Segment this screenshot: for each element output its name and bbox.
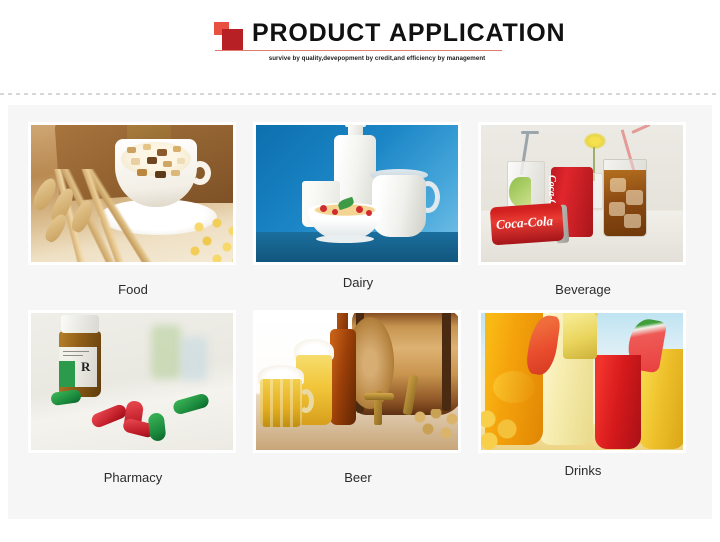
cereal-flake [147, 157, 157, 164]
page-header: PRODUCT APPLICATION survive by quality,d… [0, 0, 720, 90]
title-underline-rule [215, 50, 502, 51]
bowl-foot [316, 235, 374, 243]
fruit-garnish-pile [481, 409, 523, 450]
product-card-dairy[interactable]: Dairy [253, 122, 463, 291]
iced-cola-glass [603, 159, 647, 237]
pasta-pile [187, 217, 233, 262]
ice-cube [609, 202, 625, 216]
logo-square-dark [222, 29, 243, 50]
dairy-thumbnail-frame[interactable] [253, 122, 461, 265]
bottle-label-green-band [59, 361, 75, 387]
beverage-photo: Coca-Cola Coca-Cola [481, 125, 683, 262]
product-card-food[interactable]: Food [28, 122, 238, 298]
lime-slice [509, 177, 531, 207]
rx-symbol: R [81, 359, 90, 375]
two-red-squares-logo-icon [214, 22, 248, 52]
bent-straw-gray-top [521, 131, 539, 134]
orange-glass-highlight [493, 371, 535, 403]
bottle-cap-white [61, 315, 99, 333]
product-card-drinks[interactable]: Drinks [478, 310, 688, 479]
green-capsule [172, 392, 210, 415]
berry [320, 205, 327, 212]
label-text-line [63, 351, 89, 352]
beer-photo [256, 313, 458, 450]
barrel-band [442, 313, 451, 411]
pineapple-wedge [563, 313, 597, 359]
beer-thumbnail-frame[interactable] [253, 310, 461, 453]
barrel-tap-arm [364, 393, 394, 400]
ice-cube [610, 178, 626, 192]
pharmacy-thumbnail-frame[interactable]: R [28, 310, 236, 453]
drinks-photo [481, 313, 683, 450]
beer-mug [260, 379, 302, 427]
cereal-flake [127, 147, 136, 153]
dairy-photo [256, 125, 458, 262]
product-card-label: Dairy [253, 265, 463, 291]
page-subtitle: survive by quality,devepopment by credit… [252, 55, 502, 62]
cereal-flake [177, 158, 185, 164]
cereal-flake [171, 170, 180, 176]
product-card-label: Pharmacy [28, 453, 238, 486]
food-photo [31, 125, 233, 262]
green-capsule [50, 389, 82, 406]
drinks-thumbnail-frame[interactable] [478, 310, 686, 453]
cereal-flake [157, 149, 167, 156]
milk-jug [372, 175, 426, 237]
product-card-beverage[interactable]: Coca-Cola Coca-Cola Beverage [478, 122, 688, 298]
label-text-line [63, 355, 83, 356]
cereal-flake [173, 146, 181, 152]
header-dashed-divider [0, 93, 720, 95]
food-thumbnail-frame[interactable] [28, 122, 236, 265]
beer-bottle [330, 329, 356, 425]
product-card-label: Food [28, 265, 238, 298]
cereal-flake [155, 171, 166, 178]
green-capsule [148, 412, 167, 442]
product-card-label: Beer [253, 453, 463, 486]
page-title-word-product: PRODUCT [252, 19, 381, 47]
cereal-flake [143, 144, 151, 150]
red-juice-glass [595, 355, 641, 449]
product-card-label: Drinks [478, 453, 688, 479]
pharmacy-photo: R [31, 313, 233, 450]
product-application-panel: Food [8, 105, 712, 519]
ice-cube [624, 214, 641, 228]
product-grid: Food [8, 105, 712, 519]
background-blur-blue [181, 337, 207, 381]
berry [332, 209, 338, 215]
cereal-flake [163, 161, 172, 167]
brand-logo-block: PRODUCT APPLICATION survive by quality,d… [210, 18, 502, 74]
page-title-word-application: APPLICATION [389, 19, 565, 47]
grain-pile [412, 409, 458, 441]
yellow-flower [584, 133, 606, 149]
background-blur-green [151, 325, 181, 379]
page-title: PRODUCT APPLICATION [252, 19, 565, 48]
product-card-pharmacy[interactable]: R Pharmacy [28, 310, 238, 486]
product-card-beer[interactable]: Beer [253, 310, 463, 486]
berry [366, 210, 372, 216]
cereal-flake [131, 158, 140, 165]
bent-straw-pink-top [631, 125, 650, 134]
beverage-thumbnail-frame[interactable]: Coca-Cola Coca-Cola [478, 122, 686, 265]
ice-cube [626, 190, 643, 205]
berry [356, 206, 363, 213]
product-card-label: Beverage [478, 265, 688, 298]
